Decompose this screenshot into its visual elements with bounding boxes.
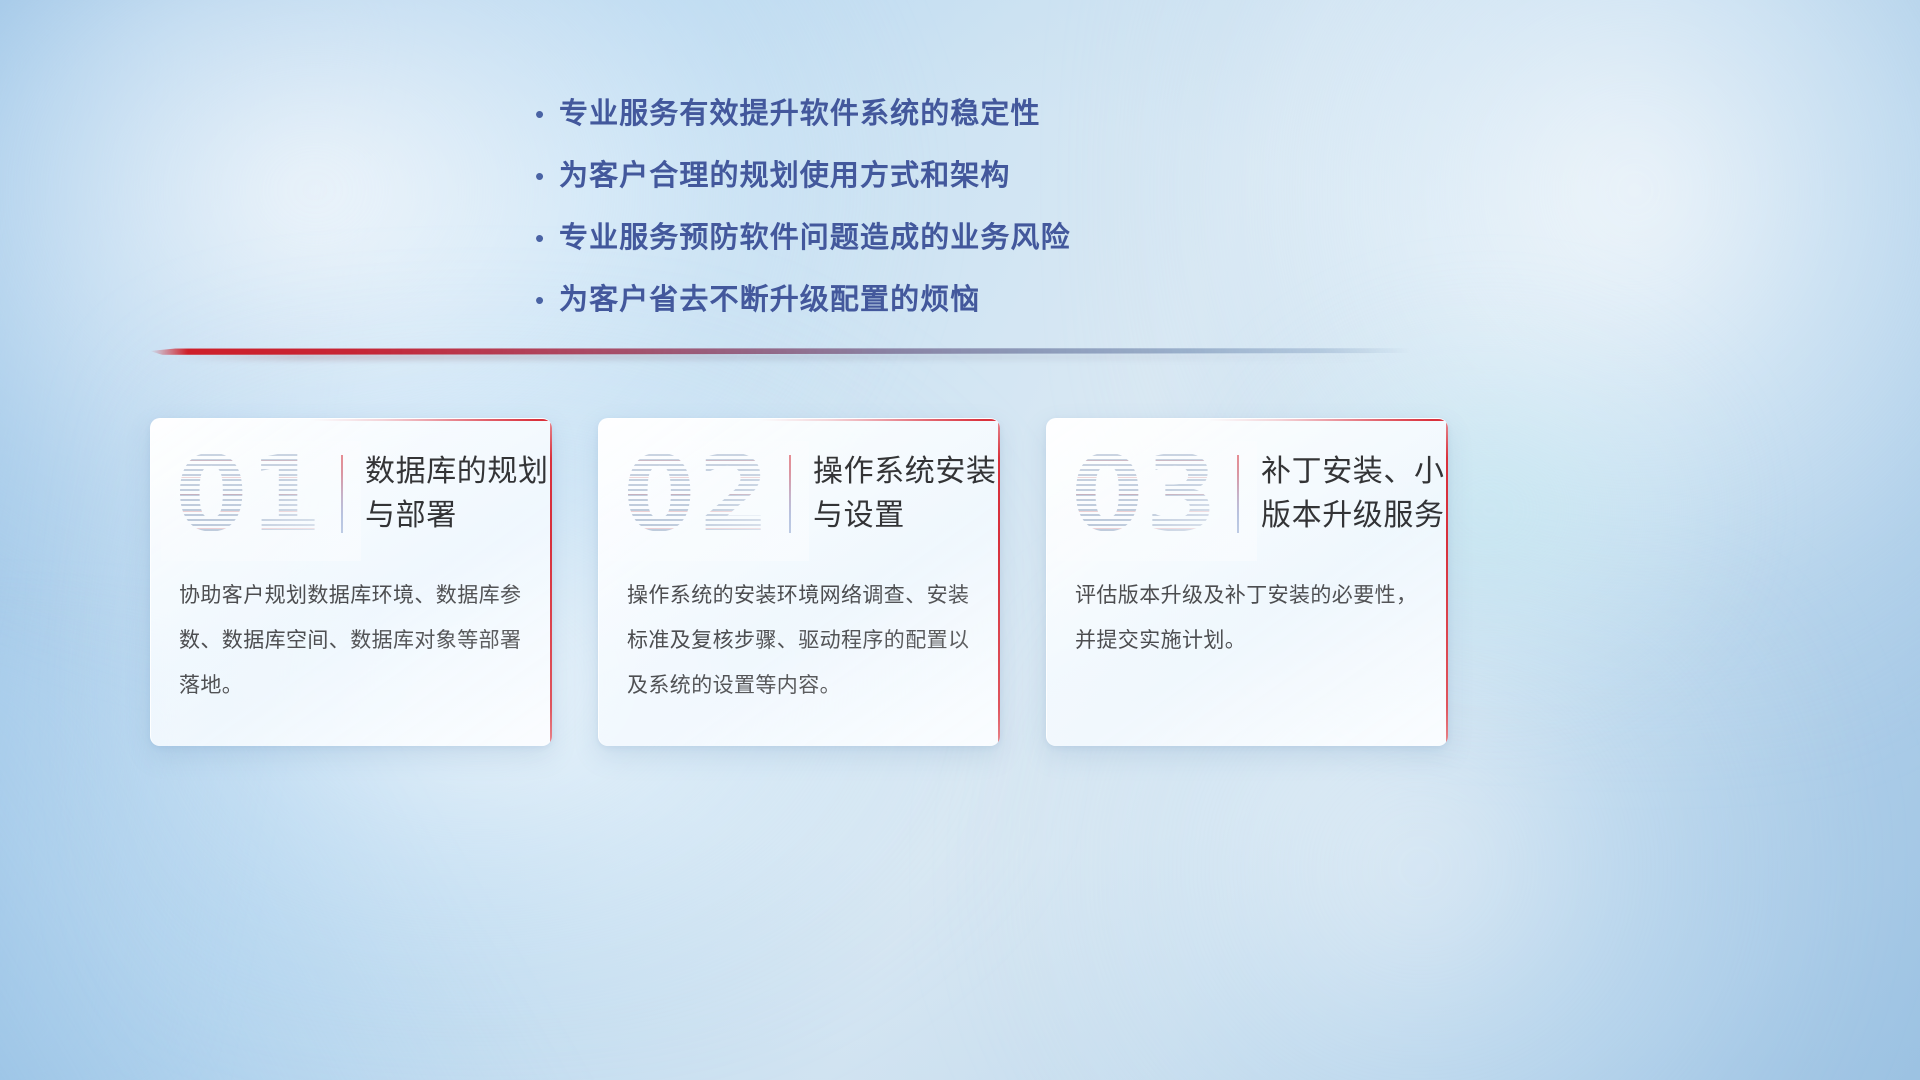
bullet-dot-icon: • — [525, 163, 559, 189]
card-title: 补丁安装、小 版本升级服务 — [1261, 450, 1445, 538]
service-card-02[interactable]: 02 操作系统安装 与设置 操作系统的安装环境网络调查、安装标准及复核步骤、驱动… — [598, 418, 1000, 746]
card-body-text: 协助客户规划数据库环境、数据库参数、数据库空间、数据库对象等部署落地。 — [151, 569, 552, 708]
list-item: • 为客户合理的规划使用方式和架构 — [525, 152, 1245, 204]
card-title-divider-bar — [341, 455, 343, 533]
bullet-dot-icon: • — [525, 225, 559, 251]
card-header: 02 操作系统安装 与设置 — [599, 419, 1000, 569]
benefits-bullet-list: • 专业服务有效提升软件系统的稳定性 • 为客户合理的规划使用方式和架构 • 专… — [525, 90, 1245, 338]
bullet-dot-icon: • — [525, 287, 559, 313]
card-number-watermark: 03 — [1071, 442, 1231, 546]
card-number-watermark: 02 — [623, 442, 783, 546]
card-title-divider-bar — [789, 455, 791, 533]
card-number-watermark: 01 — [175, 442, 335, 546]
card-header: 01 数据库的规划 与部署 — [151, 419, 552, 569]
section-divider — [150, 340, 1410, 366]
card-body-text: 操作系统的安装环境网络调查、安装标准及复核步骤、驱动程序的配置以及系统的设置等内… — [599, 569, 1000, 708]
bullet-dot-icon: • — [525, 101, 559, 127]
card-header: 03 补丁安装、小 版本升级服务 — [1047, 419, 1448, 569]
service-card-list: 01 数据库的规划 与部署 协助客户规划数据库环境、数据库参数、数据库空间、数据… — [150, 418, 1770, 748]
card-body-text: 评估版本升级及补丁安装的必要性，并提交实施计划。 — [1047, 569, 1448, 663]
bullet-label: 为客户省去不断升级配置的烦恼 — [559, 276, 980, 318]
divider-shadow — [175, 354, 1397, 360]
service-card-01[interactable]: 01 数据库的规划 与部署 协助客户规划数据库环境、数据库参数、数据库空间、数据… — [150, 418, 552, 746]
card-title: 操作系统安装 与设置 — [813, 450, 997, 538]
service-card-03[interactable]: 03 补丁安装、小 版本升级服务 评估版本升级及补丁安装的必要性，并提交实施计划… — [1046, 418, 1448, 746]
list-item: • 专业服务有效提升软件系统的稳定性 — [525, 90, 1245, 142]
bullet-label: 专业服务有效提升软件系统的稳定性 — [559, 90, 1041, 132]
card-title-divider-bar — [1237, 455, 1239, 533]
card-title: 数据库的规划 与部署 — [365, 450, 549, 538]
slide-root: • 专业服务有效提升软件系统的稳定性 • 为客户合理的规划使用方式和架构 • 专… — [0, 0, 1920, 1080]
list-item: • 专业服务预防软件问题造成的业务风险 — [525, 214, 1245, 266]
bullet-label: 专业服务预防软件问题造成的业务风险 — [559, 214, 1071, 256]
list-item: • 为客户省去不断升级配置的烦恼 — [525, 276, 1245, 328]
bullet-label: 为客户合理的规划使用方式和架构 — [559, 152, 1011, 194]
